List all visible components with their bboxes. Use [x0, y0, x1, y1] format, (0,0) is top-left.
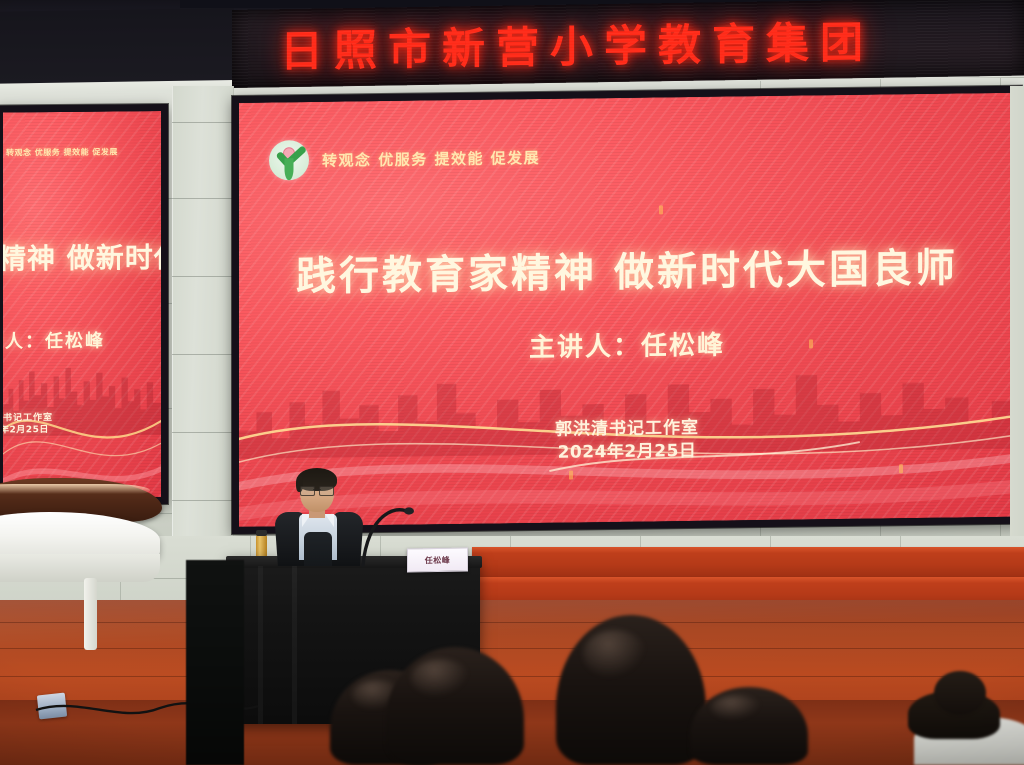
slide-logo-row: 转观念 优服务 提效能 促发展 — [269, 137, 540, 181]
audience-head — [690, 687, 808, 765]
led-pixel-artifact — [809, 339, 813, 348]
audience-head — [386, 647, 524, 765]
right-wall-strip — [1010, 86, 1024, 546]
school-emblem-logo-icon — [269, 140, 309, 181]
name-card-text: 任松峰 — [425, 554, 451, 565]
name-card: 任松峰 — [407, 547, 468, 572]
presenter-person — [276, 470, 362, 566]
audience-head — [556, 615, 706, 765]
grand-piano — [0, 470, 196, 630]
slide-footer-left: 郭洪清书记工作室 2024年2月25日 — [3, 411, 161, 438]
slide-date-left: 2024年2月25日 — [3, 423, 161, 438]
microphone — [355, 505, 415, 567]
slide-slogan: 转观念 优服务 提效能 促发展 — [322, 146, 540, 170]
slide-title: 践行教育家精神 做新时代大国良师 — [239, 235, 1015, 303]
stage-curtain — [186, 560, 244, 765]
led-pixel-artifact — [659, 205, 663, 214]
slide-speaker-left: 主讲人：任松峰 — [3, 326, 161, 354]
lecture-hall-photo: 日照市新营小学教育集团 转观念 优服务 提效能 促发 — [0, 0, 1024, 765]
left-led-screen: 转观念 优服务 提效能 促发展 践行教育家精神 做新时代大国良师 主讲人：任松峰… — [0, 104, 168, 506]
slide-title-left: 践行教育家精神 做新时代大国良师 — [3, 236, 161, 279]
led-pixel-artifact — [899, 464, 903, 473]
banner-left-shadow — [0, 8, 234, 84]
led-pixel-artifact — [569, 471, 573, 480]
slide-slogan-left: 转观念 优服务 提效能 促发展 — [6, 146, 118, 158]
main-led-screen: 转观念 优服务 提效能 促发展 践行教育家精神 做新时代大国良师 主讲人：任松峰… — [232, 86, 1022, 534]
led-banner: 日照市新营小学教育集团 — [232, 0, 1024, 88]
led-banner-text: 日照市新营小学教育集团 — [280, 8, 874, 79]
slide-logo-row-left: 转观念 优服务 提效能 促发展 — [3, 141, 118, 162]
audience-person-right — [900, 669, 1024, 765]
glasses-icon — [300, 486, 334, 494]
